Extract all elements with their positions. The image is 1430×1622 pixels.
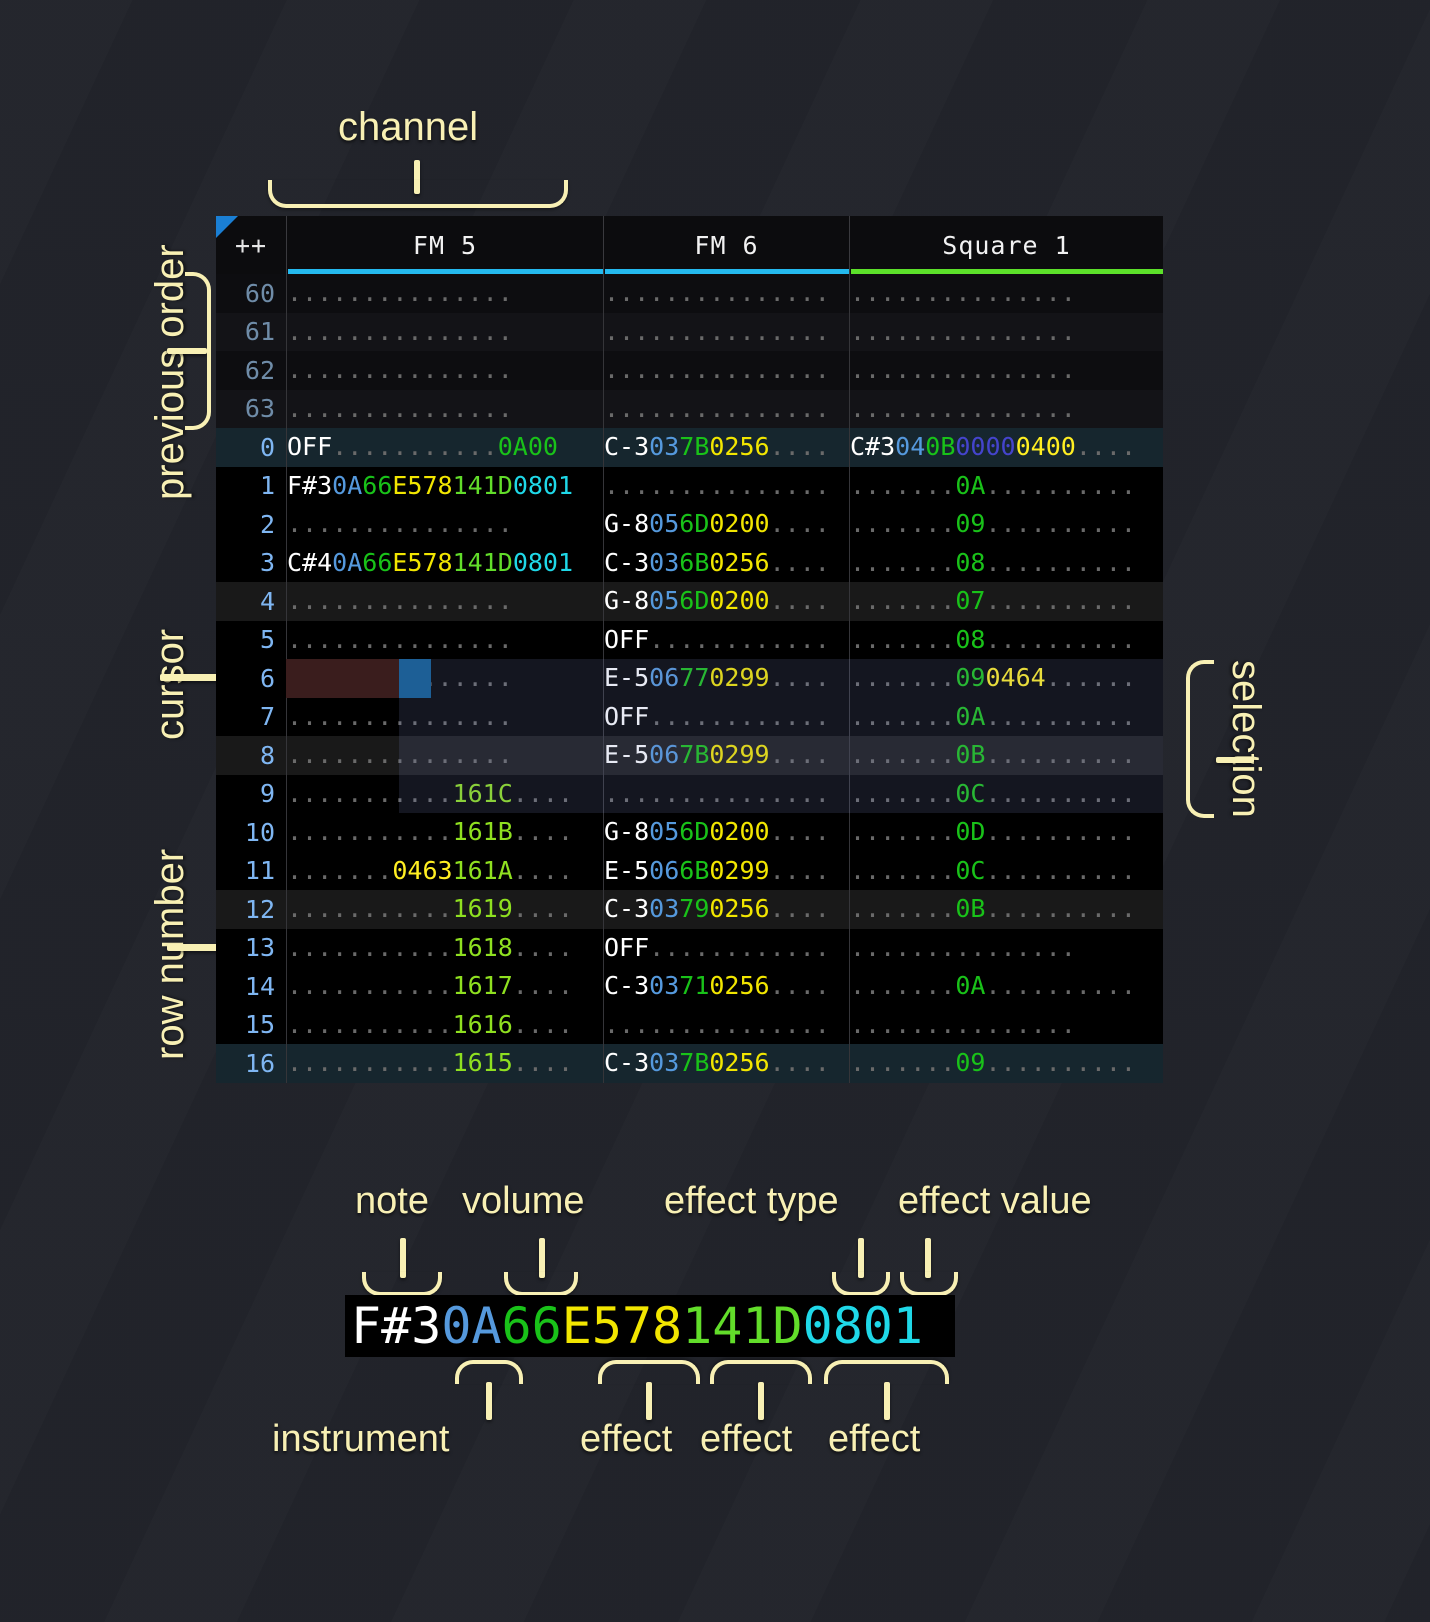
annotation-selection: selection [1223, 660, 1268, 818]
cell-token: ........... [287, 971, 453, 1000]
row-number: 4 [216, 587, 286, 616]
pattern-cell[interactable]: ............... [286, 351, 603, 390]
cell-token: C-3 [604, 548, 649, 577]
cell-token: 08 [955, 625, 985, 654]
row-number: 3 [216, 548, 286, 577]
pattern-row[interactable]: 5...............OFF...................08… [216, 621, 1163, 660]
cell-token: 0C [955, 779, 985, 808]
pattern-cell[interactable]: OFF...........0A00 [286, 428, 603, 467]
cell-token: C#3 [850, 432, 895, 461]
cell-token: 0400 [1016, 432, 1076, 461]
effect-a-leader-line [646, 1382, 652, 1420]
pattern-cell[interactable]: ............... [286, 659, 603, 698]
pattern-cell[interactable]: F#30A66E578141D0801 [286, 467, 603, 506]
cell-token: 0000 [955, 432, 1015, 461]
row-number: 12 [216, 895, 286, 924]
pattern-row[interactable]: 1F#30A66E578141D0801....................… [216, 467, 1163, 506]
pattern-row[interactable]: 8...............E-5067B0299...........0B… [216, 736, 1163, 775]
cell-token: ... [407, 779, 452, 808]
pattern-row[interactable]: 10...........161B....G-8056D0200........… [216, 813, 1163, 852]
cell-token: ....... [850, 509, 955, 538]
pattern-cell[interactable]: ............... [603, 1006, 849, 1045]
detail-instrument: 0A [441, 1297, 501, 1355]
cell-token: .... [513, 856, 573, 885]
cell-token: .......... [985, 740, 1136, 769]
effect-b-leader-line [758, 1382, 764, 1420]
channel-header-square1[interactable]: Square 1 [849, 216, 1163, 274]
effect-b-bracket [710, 1360, 812, 1384]
cell-token: F#3 [287, 471, 332, 500]
row-number: 60 [216, 279, 286, 308]
pattern-cell[interactable]: .......0C.......... [849, 775, 1163, 814]
cell-token: G-8 [604, 509, 649, 538]
cell-token: ........... [287, 817, 453, 846]
pattern-cell[interactable]: .......09.......... [849, 1044, 1163, 1083]
pattern-cell[interactable]: .......09.......... [849, 505, 1163, 544]
pattern-cell[interactable]: ...........1615.... [286, 1044, 603, 1083]
instrument-leader-line [486, 1382, 492, 1420]
cell-token: ....... [850, 471, 955, 500]
pattern-cell[interactable]: C#40A66E578141D0801 [286, 544, 603, 583]
channel-name: Square 1 [942, 231, 1070, 260]
pattern-cell[interactable]: .......090464...... [849, 659, 1163, 698]
cell-token: ............... [850, 278, 1076, 307]
channel-bracket [268, 180, 568, 208]
cell-token: E-5 [604, 740, 649, 769]
cell-token: ............ [649, 702, 830, 731]
pattern-cell[interactable]: G-8056D0200.... [603, 582, 849, 621]
cell-token: 1615 [453, 1048, 513, 1077]
pattern-cell[interactable]: C#3040B00000400.... [849, 428, 1163, 467]
pattern-cell[interactable]: ............... [286, 621, 603, 660]
pattern-cell[interactable]: OFF............ [603, 698, 849, 737]
pattern-cell[interactable]: ............... [849, 351, 1163, 390]
cell-token: 0B [955, 740, 985, 769]
cell-token: ............... [287, 663, 513, 692]
cell-token: 161B [453, 817, 513, 846]
pattern-cell[interactable]: ............... [849, 274, 1163, 313]
pattern-row[interactable]: 13...........1618....OFF................… [216, 929, 1163, 968]
cell-token: ............... [287, 702, 513, 731]
pattern-cell[interactable]: ............... [849, 1006, 1163, 1045]
cell-token: .... [1076, 432, 1136, 461]
pattern-cell[interactable]: ...........161B.... [286, 813, 603, 852]
pattern-row[interactable]: 12...........1619....C-303790256........… [216, 890, 1163, 929]
cell-token: C-3 [604, 1048, 649, 1077]
row-number: 1 [216, 471, 286, 500]
cell-token: 05 [649, 509, 679, 538]
cell-token: ............... [604, 394, 830, 423]
pattern-row[interactable]: 2...............G-8056D0200...........09… [216, 505, 1163, 544]
cell-token: 0463 [392, 856, 452, 885]
cell-token: .... [770, 971, 830, 1000]
cell-token: 03 [649, 432, 679, 461]
cell-token: .......... [985, 548, 1136, 577]
pattern-row[interactable]: 7...............OFF...................0A… [216, 698, 1163, 737]
pattern-cell[interactable]: .......08.......... [849, 621, 1163, 660]
cell-token: .... [770, 586, 830, 615]
effect-type-bracket [832, 1272, 890, 1296]
cell-token: .... [513, 933, 573, 962]
cell-token: ............... [850, 933, 1076, 962]
cell-token: .......... [985, 471, 1136, 500]
cell-token: .......... [985, 894, 1136, 923]
pattern-row[interactable]: 14...........1617....C-303710256........… [216, 967, 1163, 1006]
pattern-cell[interactable]: .......07.......... [849, 582, 1163, 621]
pattern-cell[interactable]: ............... [603, 351, 849, 390]
cell-token: 03 [649, 894, 679, 923]
row-number: 2 [216, 510, 286, 539]
cell-token: ............... [287, 586, 513, 615]
cell-token: .... [513, 971, 573, 1000]
cell-token: C-3 [604, 894, 649, 923]
cell-token: .... [770, 663, 830, 692]
cell-token: ....... [850, 779, 955, 808]
cell-token: 0801 [513, 548, 573, 577]
pattern-row[interactable]: 6...............E-506770299...........09… [216, 659, 1163, 698]
cell-token: OFF [604, 702, 649, 731]
cell-token: 6D [679, 817, 709, 846]
annotation-channel: channel [338, 105, 478, 150]
pattern-cell[interactable]: E-5067B0299.... [603, 736, 849, 775]
cell-token: 06 [649, 740, 679, 769]
pattern-cell[interactable]: C-3037B0256.... [603, 1044, 849, 1083]
cell-token: 77 [679, 663, 709, 692]
cell-token: 03 [649, 971, 679, 1000]
cell-token: .... [770, 509, 830, 538]
cell-token: 04 [895, 432, 925, 461]
cell-token: 0299 [709, 663, 769, 692]
cell-token: 66 [362, 548, 392, 577]
channel-name: FM 6 [694, 231, 758, 260]
cell-token: E-5 [604, 663, 649, 692]
annotation-effect-b: effect [700, 1418, 792, 1461]
cell-token: 71 [679, 971, 709, 1000]
channel-name: FM 5 [413, 231, 477, 260]
cell-token: 0D [955, 817, 985, 846]
cell-token: ....... [850, 548, 955, 577]
pattern-cell[interactable]: ............... [603, 274, 849, 313]
cell-token: 1619 [453, 894, 513, 923]
cell-token: OFF [287, 432, 332, 461]
pattern-cell[interactable]: .......0D.......... [849, 813, 1163, 852]
detail-effect-b: 141D [682, 1297, 802, 1355]
pattern-cell[interactable]: OFF............ [603, 621, 849, 660]
cell-token: G-8 [604, 817, 649, 846]
cell-token: .......... [985, 625, 1136, 654]
pattern-cell[interactable]: ............... [286, 505, 603, 544]
cell-token: ........ [287, 779, 407, 808]
cell-token: .... [513, 1010, 573, 1039]
pattern-cell[interactable]: ...........1619.... [286, 890, 603, 929]
pattern-row[interactable]: 4...............G-8056D0200...........07… [216, 582, 1163, 621]
cell-token: ............ [649, 933, 830, 962]
cell-token: 0299 [709, 740, 769, 769]
cell-token: 141D [453, 471, 513, 500]
pattern-cell[interactable]: C-3036B0256.... [603, 544, 849, 583]
cell-token: ........... [287, 1048, 453, 1077]
pattern-row[interactable]: 15...........1616.......................… [216, 1006, 1163, 1045]
cell-token: ....... [850, 586, 955, 615]
cell-token: ............... [287, 355, 513, 384]
pattern-cell[interactable]: ...........1616.... [286, 1006, 603, 1045]
cell-token: G-8 [604, 586, 649, 615]
cell-token: .......... [985, 971, 1136, 1000]
pattern-rows[interactable]: 60......................................… [216, 274, 1163, 1083]
cell-token: ....... [287, 856, 392, 885]
cell-token: .......... [985, 586, 1136, 615]
cell-token: 0299 [709, 856, 769, 885]
cell-token: .... [513, 894, 573, 923]
pattern-cell[interactable]: .......0A.......... [849, 698, 1163, 737]
effect-value-bracket [900, 1272, 958, 1296]
cell-token: ...... [1046, 663, 1136, 692]
pattern-cell[interactable]: C-303710256.... [603, 967, 849, 1006]
pattern-cell[interactable]: .......08.......... [849, 544, 1163, 583]
cell-token: 09 [955, 509, 985, 538]
pattern-cell[interactable]: ...........1618.... [286, 929, 603, 968]
cell-token: ............... [604, 779, 830, 808]
effect-a-bracket [598, 1360, 700, 1384]
cell-token: 0A00 [498, 432, 558, 461]
cell-token: 1616 [453, 1010, 513, 1039]
cell-token: 7B [679, 432, 709, 461]
pattern-cell[interactable]: .......0A.......... [849, 967, 1163, 1006]
pattern-cell[interactable]: ............... [849, 313, 1163, 352]
pattern-row[interactable]: 16...........1615....C-3037B0256........… [216, 1044, 1163, 1083]
pattern-cell[interactable]: .......0463161A.... [286, 852, 603, 891]
cell-token: 161A [453, 856, 513, 885]
pattern-cell[interactable]: ............... [286, 274, 603, 313]
pattern-cell[interactable]: C-3037B0256.... [603, 428, 849, 467]
cell-token: 05 [649, 586, 679, 615]
cell-token: 0200 [709, 817, 769, 846]
cell-token: ........... [332, 432, 498, 461]
pattern-cell[interactable]: .......0B.......... [849, 890, 1163, 929]
cell-token: ............... [850, 355, 1076, 384]
cell-token: 07 [955, 586, 985, 615]
channel-header-fm6[interactable]: FM 6 [603, 216, 849, 274]
cell-token: .......... [985, 779, 1136, 808]
cell-token: 0200 [709, 509, 769, 538]
cell-token: E578 [392, 471, 452, 500]
annotation-row-number: row number [148, 849, 193, 1060]
cell-token: ........... [287, 894, 453, 923]
cell-token: .......... [985, 1048, 1136, 1077]
cell-token: 7B [679, 740, 709, 769]
pattern-cell[interactable]: ...........161C.... [286, 775, 603, 814]
cell-token: 0801 [513, 471, 573, 500]
row-number: 5 [216, 625, 286, 654]
cell-token: 1617 [453, 971, 513, 1000]
cell-token: 0C [955, 856, 985, 885]
cell-token: 0B [925, 432, 955, 461]
pattern-cell[interactable]: ............... [603, 467, 849, 506]
row-number: 6 [216, 664, 286, 693]
cell-token: .... [770, 856, 830, 885]
pattern-cell[interactable]: ............... [286, 313, 603, 352]
cell-token: E-5 [604, 856, 649, 885]
cell-token: 0200 [709, 586, 769, 615]
pattern-cell[interactable]: E-506770299.... [603, 659, 849, 698]
row-number: 8 [216, 741, 286, 770]
pattern-cell[interactable]: ............... [286, 390, 603, 429]
cell-token: ............ [649, 625, 830, 654]
row-number: 61 [216, 317, 286, 346]
pattern-row[interactable]: 61......................................… [216, 313, 1163, 352]
cell-token: C#4 [287, 548, 332, 577]
cell-token: ............... [287, 509, 513, 538]
pattern-row[interactable]: 62......................................… [216, 351, 1163, 390]
cell-token: OFF [604, 625, 649, 654]
cell-token: 0464 [985, 663, 1045, 692]
cell-token: ....... [850, 1048, 955, 1077]
row-number: 63 [216, 394, 286, 423]
cell-token: ............... [604, 317, 830, 346]
pattern-cell[interactable]: G-8056D0200.... [603, 505, 849, 544]
pattern-cell[interactable]: ............... [603, 390, 849, 429]
pattern-cell[interactable]: ............... [286, 736, 603, 775]
cell-token: 0A [332, 548, 362, 577]
cell-token: ........... [287, 933, 453, 962]
annotation-instrument: instrument [272, 1418, 449, 1461]
pattern-editor[interactable]: ++ FM 5 FM 6 Square 1 60................… [216, 216, 1163, 1080]
cell-token: 06 [649, 663, 679, 692]
cell-token: C-3 [604, 432, 649, 461]
cell-token: 161C [453, 779, 513, 808]
cell-token: ............... [604, 1010, 830, 1039]
cell-token: ....... [850, 625, 955, 654]
cell-token: ....... [850, 663, 955, 692]
detail-note: F#3 [351, 1297, 441, 1355]
cell-token: 0256 [709, 971, 769, 1000]
cell-token: .... [513, 1048, 573, 1077]
cell-token: 09 [955, 1048, 985, 1077]
instrument-bracket [455, 1360, 523, 1384]
row-number: 9 [216, 779, 286, 808]
cell-token: ............... [604, 355, 830, 384]
cell-token: .... [770, 740, 830, 769]
annotation-effect-c: effect [828, 1418, 920, 1461]
row-number: 62 [216, 356, 286, 385]
cell-token: 06 [649, 856, 679, 885]
cell-token: .......... [985, 856, 1136, 885]
cell-token: ............... [850, 394, 1076, 423]
cell-token: 0256 [709, 1048, 769, 1077]
cell-token: E578 [392, 548, 452, 577]
pattern-row[interactable]: 11.......0463161A....E-5066B0299........… [216, 852, 1163, 891]
row-number: 11 [216, 856, 286, 885]
cell-token: 0256 [709, 548, 769, 577]
order-corner-icon [216, 216, 238, 238]
cell-token: 05 [649, 817, 679, 846]
pattern-cell[interactable]: ............... [603, 775, 849, 814]
detail-effect-c: 0801 [803, 1297, 923, 1355]
pattern-row[interactable]: 63......................................… [216, 390, 1163, 429]
cell-token: 0A [955, 702, 985, 731]
cell-token: 0B [955, 894, 985, 923]
cell-token: 7B [679, 1048, 709, 1077]
selection-bracket [1186, 660, 1214, 818]
cell-token: ............... [604, 471, 830, 500]
row-number: 14 [216, 972, 286, 1001]
cell-token: ....... [850, 894, 955, 923]
row-number: 13 [216, 933, 286, 962]
cell-token: OFF [604, 933, 649, 962]
note-bracket [362, 1272, 442, 1296]
pattern-cell[interactable]: ............... [849, 390, 1163, 429]
cell-token: ............... [850, 1010, 1076, 1039]
pattern-cell[interactable]: .......0C.......... [849, 852, 1163, 891]
cell-token: .... [770, 817, 830, 846]
cell-token: ....... [850, 856, 955, 885]
pattern-cell[interactable]: ............... [603, 313, 849, 352]
cell-token: 0256 [709, 894, 769, 923]
row-number: 16 [216, 1049, 286, 1078]
cell-token: ............... [604, 278, 830, 307]
cell-token: .... [770, 1048, 830, 1077]
effect-c-leader-line [884, 1382, 890, 1420]
cell-token: 03 [649, 1048, 679, 1077]
pattern-cell[interactable]: ............... [286, 582, 603, 621]
cell-token: 6B [679, 856, 709, 885]
pattern-row[interactable]: 0OFF...........0A00C-3037B0256....C#3040… [216, 428, 1163, 467]
row-number: 15 [216, 1010, 286, 1039]
row-number: 10 [216, 818, 286, 847]
volume-bracket [504, 1272, 578, 1296]
cell-token: ............... [287, 394, 513, 423]
pattern-row[interactable]: 60......................................… [216, 274, 1163, 313]
pattern-header: ++ FM 5 FM 6 Square 1 [216, 216, 1163, 274]
annotation-effect-type: effect type [664, 1180, 839, 1223]
cell-token: ....... [850, 971, 955, 1000]
annotation-effect-a: effect [580, 1418, 672, 1461]
effect-c-bracket [824, 1360, 949, 1384]
cell-token: 0A [955, 471, 985, 500]
pattern-cell[interactable]: OFF............ [603, 929, 849, 968]
cell-token: ............... [850, 317, 1076, 346]
pattern-cell[interactable]: ...........1617.... [286, 967, 603, 1006]
cell-token: ............... [287, 278, 513, 307]
pattern-row[interactable]: 9...........161C........................… [216, 775, 1163, 814]
detail-effect-a: E578 [562, 1297, 682, 1355]
pattern-cell[interactable]: ............... [849, 929, 1163, 968]
annotation-cursor: cursor [148, 629, 193, 740]
pattern-cell[interactable]: C-303790256.... [603, 890, 849, 929]
cell-token: 0256 [709, 432, 769, 461]
pattern-cell[interactable]: G-8056D0200.... [603, 813, 849, 852]
cell-token: 79 [679, 894, 709, 923]
cell-token: 1618 [453, 933, 513, 962]
cell-token: 09 [955, 663, 985, 692]
cell-token: ............... [287, 317, 513, 346]
cell-token: 03 [649, 548, 679, 577]
pattern-cell[interactable]: .......0B.......... [849, 736, 1163, 775]
channel-header-fm5[interactable]: FM 5 [286, 216, 603, 274]
pattern-row[interactable]: 3C#40A66E578141D0801C-3036B0256.........… [216, 544, 1163, 583]
cell-token: .... [770, 548, 830, 577]
pattern-cell[interactable]: E-5066B0299.... [603, 852, 849, 891]
cell-token: 0A [955, 971, 985, 1000]
annotation-effect-value: effect value [898, 1180, 1092, 1223]
cell-token: ............... [287, 625, 513, 654]
pattern-cell[interactable]: ............... [286, 698, 603, 737]
selection-leader-line [1216, 757, 1254, 763]
cell-token: .......... [985, 817, 1136, 846]
cell-token: ....... [850, 740, 955, 769]
cell-token: .......... [985, 702, 1136, 731]
pattern-cell[interactable]: .......0A.......... [849, 467, 1163, 506]
